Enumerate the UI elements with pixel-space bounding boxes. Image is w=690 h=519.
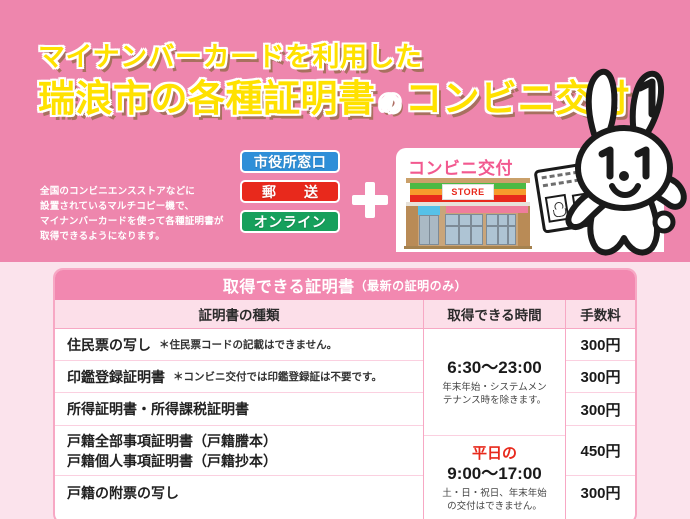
table-row: 所得証明書・所得課税証明書 (55, 393, 423, 426)
fee-value: 300円 (566, 329, 635, 361)
table-header-row: 証明書の種類 取得できる時間 手数料 (55, 300, 635, 329)
hero-description-line-4: 取得できるようになります。 (40, 229, 235, 244)
channel-pill-mail: 郵 送 (240, 180, 340, 203)
hours-note-line-2: テナンス時を除きます。 (443, 395, 546, 406)
hero-title: マイナンバーカードを利用した 瑞浪市の各種証明書のコンビニ交付 (38, 40, 558, 126)
table-row: 印鑑登録証明書 ＊コンビニ交付では印鑑登録証は不要です。 (55, 361, 423, 393)
available-hours-column: 6:30〜23:00 年末年始・システムメン テナンス時を除きます。 平日の 9… (423, 329, 565, 519)
hero-description-line-1: 全国のコンビニエンスストアなどに (40, 184, 235, 199)
table-title-sub: （最新の証明のみ） (355, 277, 468, 294)
certificate-name-secondary: 戸籍個人事項証明書（戸籍抄本） (67, 451, 277, 471)
column-header-certificate-type: 証明書の種類 (55, 300, 423, 328)
channel-pill-city-office: 市役所窓口 (240, 150, 340, 173)
table-title-main: 取得できる証明書 (223, 273, 355, 297)
hero-section: マイナンバーカードを利用した 瑞浪市の各種証明書のコンビニ交付 全国のコンビニエ… (0, 0, 690, 262)
convenience-store-icon: STORE (404, 178, 532, 248)
column-header-available-hours: 取得できる時間 (423, 300, 565, 328)
panel-label-convenience-issuance: コンビニ交付 (408, 154, 513, 179)
title-line-2: 瑞浪市の各種証明書のコンビニ交付 (38, 76, 558, 126)
hero-description-line-3: マイナンバーカードを使って各種証明書が (40, 214, 235, 229)
title-particle-no: の (376, 90, 406, 116)
certificate-name: 印鑑登録証明書 (67, 367, 165, 387)
fee-column: 300円 300円 300円 450円 300円 (565, 329, 635, 519)
fee-value: 300円 (566, 361, 635, 393)
banner-page: マイナンバーカードを利用した 瑞浪市の各種証明書のコンビニ交付 全国のコンビニエ… (0, 0, 690, 519)
certificates-table: 取得できる証明書 （最新の証明のみ） 証明書の種類 取得できる時間 手数料 住民… (53, 268, 637, 519)
certificate-name: 戸籍の附票の写し (67, 483, 179, 503)
plus-icon (352, 182, 388, 218)
table-row: 戸籍の附票の写し (55, 476, 423, 509)
fee-value: 300円 (566, 476, 635, 509)
store-sign: STORE (442, 184, 494, 200)
title-line-1: マイナンバーカードを利用した (38, 40, 558, 74)
hours-value: 6:30〜23:00 (447, 357, 542, 379)
hero-description-line-2: 設置されているマルチコピー機で、 (40, 199, 235, 214)
hero-description: 全国のコンビニエンスストアなどに 設置されているマルチコピー機で、 マイナンバー… (40, 184, 235, 244)
channel-pill-group: 市役所窓口 郵 送 オンライン (240, 150, 340, 233)
certificate-name: 所得証明書・所得課税証明書 (67, 399, 249, 419)
hours-note-line-2: の交付はできません。 (447, 501, 542, 512)
channel-pill-online: オンライン (240, 210, 340, 233)
fee-value: 300円 (566, 393, 635, 426)
hours-cell-standard: 6:30〜23:00 年末年始・システムメン テナンス時を除きます。 (424, 329, 565, 436)
hours-weekday-prefix: 平日の (472, 445, 517, 463)
certificate-note: ＊コンビニ交付では印鑑登録証は不要です。 (173, 369, 382, 384)
rabbit-mascot-icon (556, 62, 690, 262)
hours-note: 年末年始・システムメン テナンス時を除きます。 (442, 381, 546, 407)
certificate-name: 住民票の写し (67, 335, 151, 355)
hours-note-line-1: 土・日・祝日、年末年始 (442, 488, 547, 499)
table-row: 戸籍全部事項証明書（戸籍謄本） 戸籍個人事項証明書（戸籍抄本） (55, 426, 423, 476)
table-title: 取得できる証明書 （最新の証明のみ） (55, 270, 635, 300)
table-body: 住民票の写し ＊住民票コードの記載はできません。 印鑑登録証明書 ＊コンビニ交付… (55, 329, 635, 519)
table-row: 住民票の写し ＊住民票コードの記載はできません。 (55, 329, 423, 361)
column-header-fee: 手数料 (565, 300, 635, 328)
certificate-name: 戸籍全部事項証明書（戸籍謄本） (67, 431, 277, 451)
hours-note-line-1: 年末年始・システムメン (442, 382, 546, 393)
store-sign-label: STORE (451, 187, 484, 197)
hours-note: 土・日・祝日、年末年始 の交付はできません。 (442, 487, 547, 513)
hours-cell-weekday: 平日の 9:00〜17:00 土・日・祝日、年末年始 の交付はできません。 (424, 436, 565, 519)
certificate-note: ＊住民票コードの記載はできません。 (159, 337, 337, 352)
title-city-certificates: 瑞浪市の各種証明書 (38, 78, 376, 119)
hours-value: 9:00〜17:00 (447, 463, 542, 485)
certificate-name-column: 住民票の写し ＊住民票コードの記載はできません。 印鑑登録証明書 ＊コンビニ交付… (55, 329, 423, 519)
fee-value: 450円 (566, 426, 635, 476)
